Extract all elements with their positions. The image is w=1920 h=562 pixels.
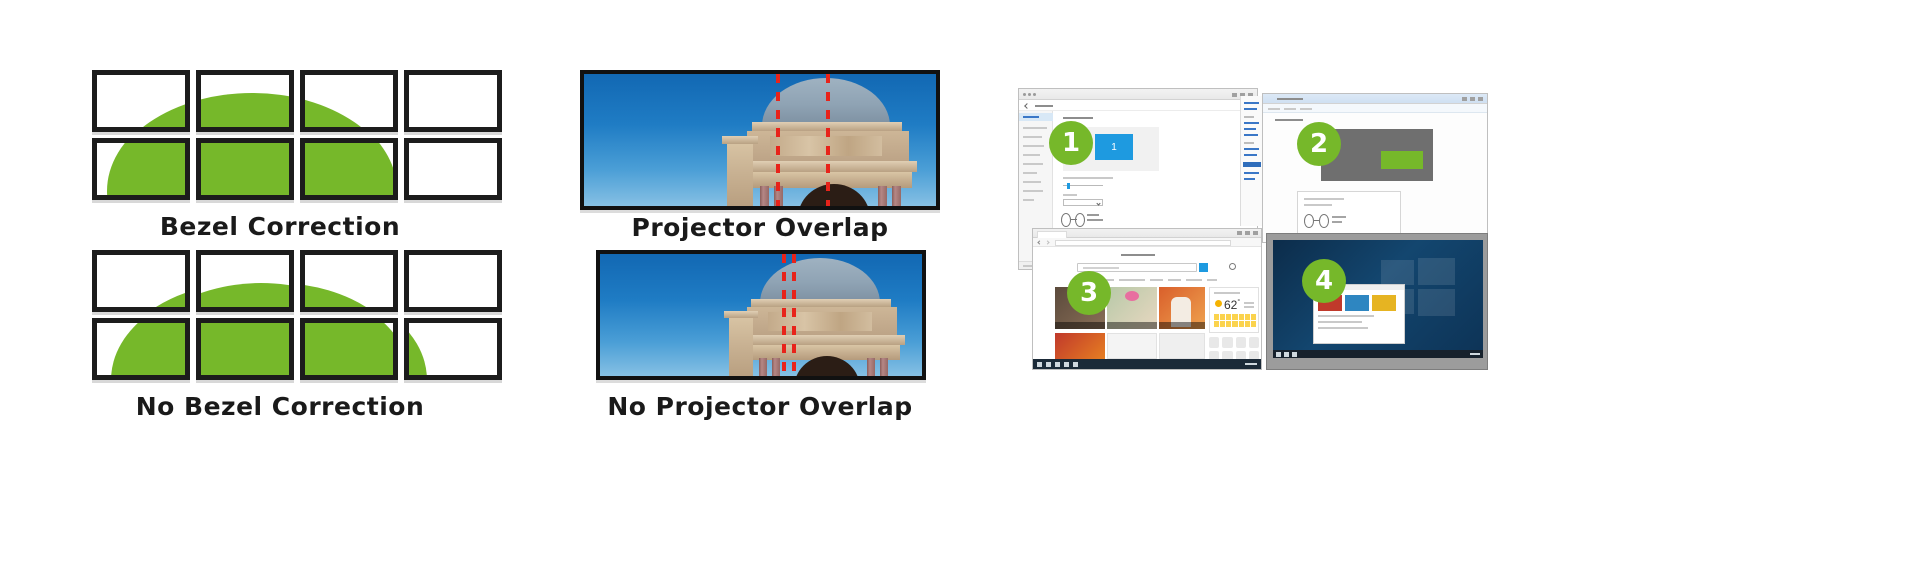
orientation-label bbox=[1063, 194, 1077, 196]
content-heading bbox=[1063, 117, 1093, 119]
weather-card[interactable]: 62° bbox=[1209, 287, 1259, 333]
news-tile-4[interactable] bbox=[1055, 333, 1105, 359]
back-arrow-icon[interactable] bbox=[1037, 240, 1041, 244]
green-arc-segment bbox=[201, 93, 289, 127]
green-arc-segment bbox=[409, 283, 427, 307]
monitor-r1c2 bbox=[196, 70, 294, 132]
tile-caption bbox=[1107, 322, 1157, 329]
caption-no-projector-overlap: No Projector Overlap bbox=[580, 392, 940, 421]
green-arc-segment bbox=[305, 143, 393, 195]
app-icon[interactable] bbox=[1236, 351, 1246, 359]
back-arrow-icon[interactable] bbox=[1024, 103, 1030, 109]
dome-cornice bbox=[751, 299, 891, 307]
news-tile-6[interactable] bbox=[1159, 333, 1205, 359]
monitor-r2c4 bbox=[404, 138, 502, 200]
monitor-screen bbox=[305, 143, 393, 195]
windows-taskbar[interactable] bbox=[1033, 359, 1261, 369]
column-4 bbox=[880, 358, 888, 376]
setup-steps-panel: 1 bbox=[1018, 88, 1488, 370]
options-card[interactable] bbox=[1297, 191, 1401, 235]
monitor-screen bbox=[305, 255, 393, 307]
chevron-down-icon[interactable] bbox=[1096, 201, 1100, 205]
green-arc-segment bbox=[409, 323, 427, 375]
green-arc-segment bbox=[111, 283, 185, 307]
palette-link[interactable] bbox=[1244, 178, 1255, 180]
monitor-screen bbox=[305, 323, 393, 375]
step-badge-3: 3 bbox=[1067, 271, 1111, 315]
window-thumb bbox=[1372, 295, 1396, 311]
monitor-r2c2 bbox=[196, 318, 294, 380]
sidebar-item-display[interactable] bbox=[1019, 113, 1053, 121]
card-line bbox=[1304, 204, 1332, 206]
step-badge-1: 1 bbox=[1049, 121, 1093, 165]
monitor-r1c3 bbox=[300, 70, 398, 132]
monitor-screen bbox=[97, 323, 185, 375]
scale-slider[interactable] bbox=[1063, 183, 1103, 189]
forward-arrow-icon[interactable] bbox=[1045, 240, 1049, 244]
toolbar-row[interactable] bbox=[1263, 104, 1487, 113]
sidebar-item-label bbox=[1023, 116, 1039, 118]
monitor-r2c1 bbox=[92, 318, 190, 380]
projector-guide-line-2 bbox=[792, 254, 796, 376]
monitor-screen bbox=[409, 143, 497, 195]
app-icon[interactable] bbox=[1249, 351, 1259, 359]
green-highlight-region bbox=[1381, 151, 1423, 169]
display-adapter-diagram bbox=[1304, 212, 1350, 230]
palette-link[interactable] bbox=[1244, 122, 1259, 124]
window-controls[interactable] bbox=[1237, 231, 1258, 235]
minimize-icon[interactable] bbox=[1237, 231, 1242, 235]
sidebar-item-apps[interactable] bbox=[1023, 136, 1042, 138]
search-placeholder bbox=[1083, 267, 1119, 269]
start-icon[interactable] bbox=[1037, 362, 1042, 367]
browser-tab[interactable] bbox=[1037, 231, 1067, 238]
palace-of-fine-arts-photo bbox=[600, 254, 922, 376]
sidebar-item-default-apps[interactable] bbox=[1023, 190, 1043, 192]
step-badge-2: 2 bbox=[1297, 122, 1341, 166]
palette-selected-item[interactable] bbox=[1243, 162, 1261, 167]
taskbar-app-icon[interactable] bbox=[1284, 352, 1289, 357]
tile-caption bbox=[1159, 322, 1205, 329]
palette-link[interactable] bbox=[1244, 148, 1259, 150]
card-line bbox=[1304, 198, 1344, 200]
monitor-r2c1 bbox=[92, 138, 190, 200]
app-icon[interactable] bbox=[1249, 337, 1259, 348]
news-tile-2[interactable] bbox=[1107, 287, 1157, 329]
app-icon[interactable] bbox=[1222, 337, 1232, 348]
app-icon[interactable] bbox=[1209, 351, 1219, 359]
green-arc-segment bbox=[201, 143, 289, 195]
monitor-screen bbox=[97, 143, 185, 195]
caption-no-bezel-correction: No Bezel Correction bbox=[0, 392, 560, 421]
palace-of-fine-arts-photo bbox=[584, 74, 936, 206]
close-icon[interactable] bbox=[1253, 231, 1258, 235]
maximize-icon[interactable] bbox=[1245, 231, 1250, 235]
monitor-screen bbox=[97, 255, 185, 307]
column-3 bbox=[878, 186, 887, 206]
app-icon[interactable] bbox=[1222, 351, 1232, 359]
projector-image-overlap bbox=[580, 70, 940, 210]
taskbar-app-icon[interactable] bbox=[1064, 362, 1069, 367]
green-arc-segment bbox=[107, 143, 185, 195]
monitor-r1c1 bbox=[92, 70, 190, 132]
green-arc-segment bbox=[305, 93, 393, 127]
caption-projector-overlap: Projector Overlap bbox=[580, 213, 940, 242]
flower-accent bbox=[1125, 291, 1139, 301]
palette-label bbox=[1244, 116, 1254, 118]
titlebar-dots-icon bbox=[1023, 93, 1036, 96]
palette-link[interactable] bbox=[1244, 172, 1259, 174]
monitor-screen bbox=[201, 255, 289, 307]
sidebar-item-offline-maps[interactable] bbox=[1023, 181, 1041, 183]
system-clock[interactable] bbox=[1245, 363, 1257, 365]
tab-video[interactable] bbox=[1207, 279, 1217, 281]
maximize-icon[interactable] bbox=[1470, 97, 1475, 101]
monitor-screen bbox=[201, 75, 289, 127]
left-pier bbox=[727, 140, 753, 206]
sidebar-item-multitasking[interactable] bbox=[1023, 145, 1044, 147]
app-shortcuts-grid[interactable] bbox=[1209, 337, 1259, 359]
window-titlebar[interactable] bbox=[1033, 229, 1261, 238]
main-cornice bbox=[740, 335, 905, 345]
tab-lifestyle[interactable] bbox=[1186, 279, 1202, 281]
column-1 bbox=[759, 358, 767, 376]
start-icon[interactable] bbox=[1276, 352, 1281, 357]
sidebar-item-power-sleep[interactable] bbox=[1023, 163, 1043, 165]
left-pier-cap bbox=[722, 136, 758, 144]
monitor-r1c4 bbox=[404, 70, 502, 132]
monitor-r2c2 bbox=[196, 138, 294, 200]
weather-detail bbox=[1244, 302, 1254, 304]
temp-unit: ° bbox=[1237, 299, 1240, 306]
weather-detail bbox=[1244, 306, 1254, 308]
palette-link[interactable] bbox=[1244, 128, 1256, 130]
monitor-r2c3 bbox=[300, 318, 398, 380]
column-4 bbox=[892, 186, 901, 206]
window-titlebar[interactable] bbox=[1263, 94, 1487, 104]
orientation-dropdown[interactable] bbox=[1063, 199, 1103, 206]
palette-link[interactable] bbox=[1244, 108, 1257, 110]
monitor-screen bbox=[305, 75, 393, 127]
windows-taskbar[interactable] bbox=[1273, 350, 1483, 358]
body-text-line bbox=[1063, 177, 1113, 179]
sun-icon bbox=[1215, 300, 1222, 307]
monitor-wall-bezel-correction bbox=[92, 70, 502, 202]
sidebar-item-about[interactable] bbox=[1023, 199, 1034, 201]
projector-guide-line-2 bbox=[826, 74, 830, 206]
sidebar-item-storage[interactable] bbox=[1023, 172, 1037, 174]
external-monitor-frame bbox=[1266, 233, 1488, 370]
temp-value: 62 bbox=[1224, 298, 1237, 312]
browser-content: 62° bbox=[1033, 247, 1261, 359]
window-header bbox=[1019, 100, 1257, 111]
column-1 bbox=[760, 186, 769, 206]
minimize-icon[interactable] bbox=[1462, 97, 1467, 101]
window-thumb bbox=[1345, 295, 1369, 311]
monitor-screen bbox=[409, 75, 497, 127]
palette-label bbox=[1244, 142, 1254, 144]
bezel-correction-panel: Bezel Correction bbox=[0, 0, 560, 562]
app-icon[interactable] bbox=[1236, 337, 1246, 348]
column-2 bbox=[772, 358, 780, 376]
weather-location bbox=[1214, 292, 1240, 294]
projector-guide-line-1 bbox=[776, 74, 780, 206]
palette-link[interactable] bbox=[1244, 134, 1258, 136]
monitor-r1c4 bbox=[404, 250, 502, 312]
green-arc-segment bbox=[305, 323, 393, 375]
green-arc-segment bbox=[201, 283, 289, 307]
screenshot-extended-desktop[interactable]: 4 bbox=[1266, 233, 1488, 370]
search-icon[interactable] bbox=[1229, 263, 1236, 270]
tab-sports[interactable] bbox=[1150, 279, 1163, 281]
toolbar-item[interactable] bbox=[1284, 108, 1296, 110]
taskbar-app-icon[interactable] bbox=[1073, 362, 1078, 367]
weather-forecast-grid bbox=[1214, 314, 1256, 327]
taskbar-app-icon[interactable] bbox=[1055, 362, 1060, 367]
monitor-screen bbox=[97, 75, 185, 127]
window-title bbox=[1035, 105, 1053, 107]
monitor-screen bbox=[409, 255, 497, 307]
projector-guide-line-1 bbox=[782, 254, 786, 376]
monitor-screen bbox=[201, 143, 289, 195]
slider-thumb[interactable] bbox=[1067, 183, 1070, 189]
preview-heading bbox=[1275, 119, 1303, 121]
column-3 bbox=[867, 358, 875, 376]
toolbar-item[interactable] bbox=[1268, 108, 1280, 110]
monitor-r1c2 bbox=[196, 250, 294, 312]
search-prompt bbox=[1121, 254, 1155, 256]
window-titlebar[interactable] bbox=[1019, 89, 1257, 100]
sidebar-item-tablet-mode[interactable] bbox=[1023, 154, 1040, 156]
left-pier-cap bbox=[724, 311, 758, 318]
monitor-r1c3 bbox=[300, 250, 398, 312]
palette-link[interactable] bbox=[1244, 154, 1257, 156]
projector-overlap-panel: Projector Overlap bbox=[560, 0, 980, 562]
monitor-r2c4 bbox=[404, 318, 502, 380]
tab-entertainment[interactable] bbox=[1119, 279, 1145, 281]
taskbar-app-icon[interactable] bbox=[1292, 352, 1297, 357]
monitor-screen bbox=[201, 323, 289, 375]
browser-toolbar[interactable] bbox=[1033, 238, 1261, 247]
dome-shape bbox=[760, 258, 880, 303]
projector-image-no-overlap bbox=[596, 250, 926, 380]
monitor-r2c3 bbox=[300, 138, 398, 200]
green-arc-segment bbox=[305, 283, 393, 307]
window-text bbox=[1318, 315, 1374, 317]
display-adapter-diagram bbox=[1061, 211, 1105, 229]
window-text bbox=[1318, 327, 1368, 329]
tab-money[interactable] bbox=[1168, 279, 1181, 281]
monitor-r1c1 bbox=[92, 250, 190, 312]
step-badge-4: 4 bbox=[1302, 259, 1346, 303]
window-controls[interactable] bbox=[1462, 97, 1483, 101]
left-pier bbox=[729, 315, 753, 376]
windows-desktop[interactable] bbox=[1273, 240, 1483, 358]
search-input[interactable] bbox=[1077, 263, 1197, 272]
toolbar-item[interactable] bbox=[1300, 108, 1312, 110]
weather-temperature: 62° bbox=[1224, 298, 1240, 312]
monitor-wall-no-bezel-correction bbox=[92, 250, 502, 382]
monitor-screen bbox=[409, 323, 497, 375]
sidebar-item-notifications[interactable] bbox=[1023, 127, 1047, 129]
green-arc-segment bbox=[107, 93, 185, 127]
tile-caption bbox=[1055, 322, 1105, 329]
window-text bbox=[1318, 321, 1362, 323]
screenshot-display-preview[interactable]: 2 bbox=[1262, 93, 1488, 243]
news-tile-5[interactable] bbox=[1107, 333, 1157, 359]
address-bar[interactable] bbox=[1055, 240, 1231, 246]
monitor-tile-1[interactable]: 1 bbox=[1095, 134, 1133, 160]
palette-link[interactable] bbox=[1244, 102, 1259, 104]
screenshot-browser-home[interactable]: 62° bbox=[1032, 228, 1262, 370]
infographic-canvas: Bezel Correction bbox=[0, 0, 1920, 562]
taskbar-search-icon[interactable] bbox=[1046, 362, 1051, 367]
minimize-icon[interactable] bbox=[1232, 93, 1237, 97]
news-tile-3[interactable] bbox=[1159, 287, 1205, 329]
preview-body bbox=[1263, 113, 1487, 242]
green-arc-segment bbox=[111, 323, 185, 375]
app-icon[interactable] bbox=[1209, 337, 1219, 348]
close-icon[interactable] bbox=[1478, 97, 1483, 101]
system-clock[interactable] bbox=[1470, 353, 1480, 355]
caption-bezel-correction: Bezel Correction bbox=[0, 212, 560, 241]
search-button[interactable] bbox=[1199, 263, 1208, 272]
docked-palette-top[interactable] bbox=[1240, 96, 1262, 226]
window-title bbox=[1277, 98, 1303, 100]
green-arc-segment bbox=[201, 323, 289, 375]
